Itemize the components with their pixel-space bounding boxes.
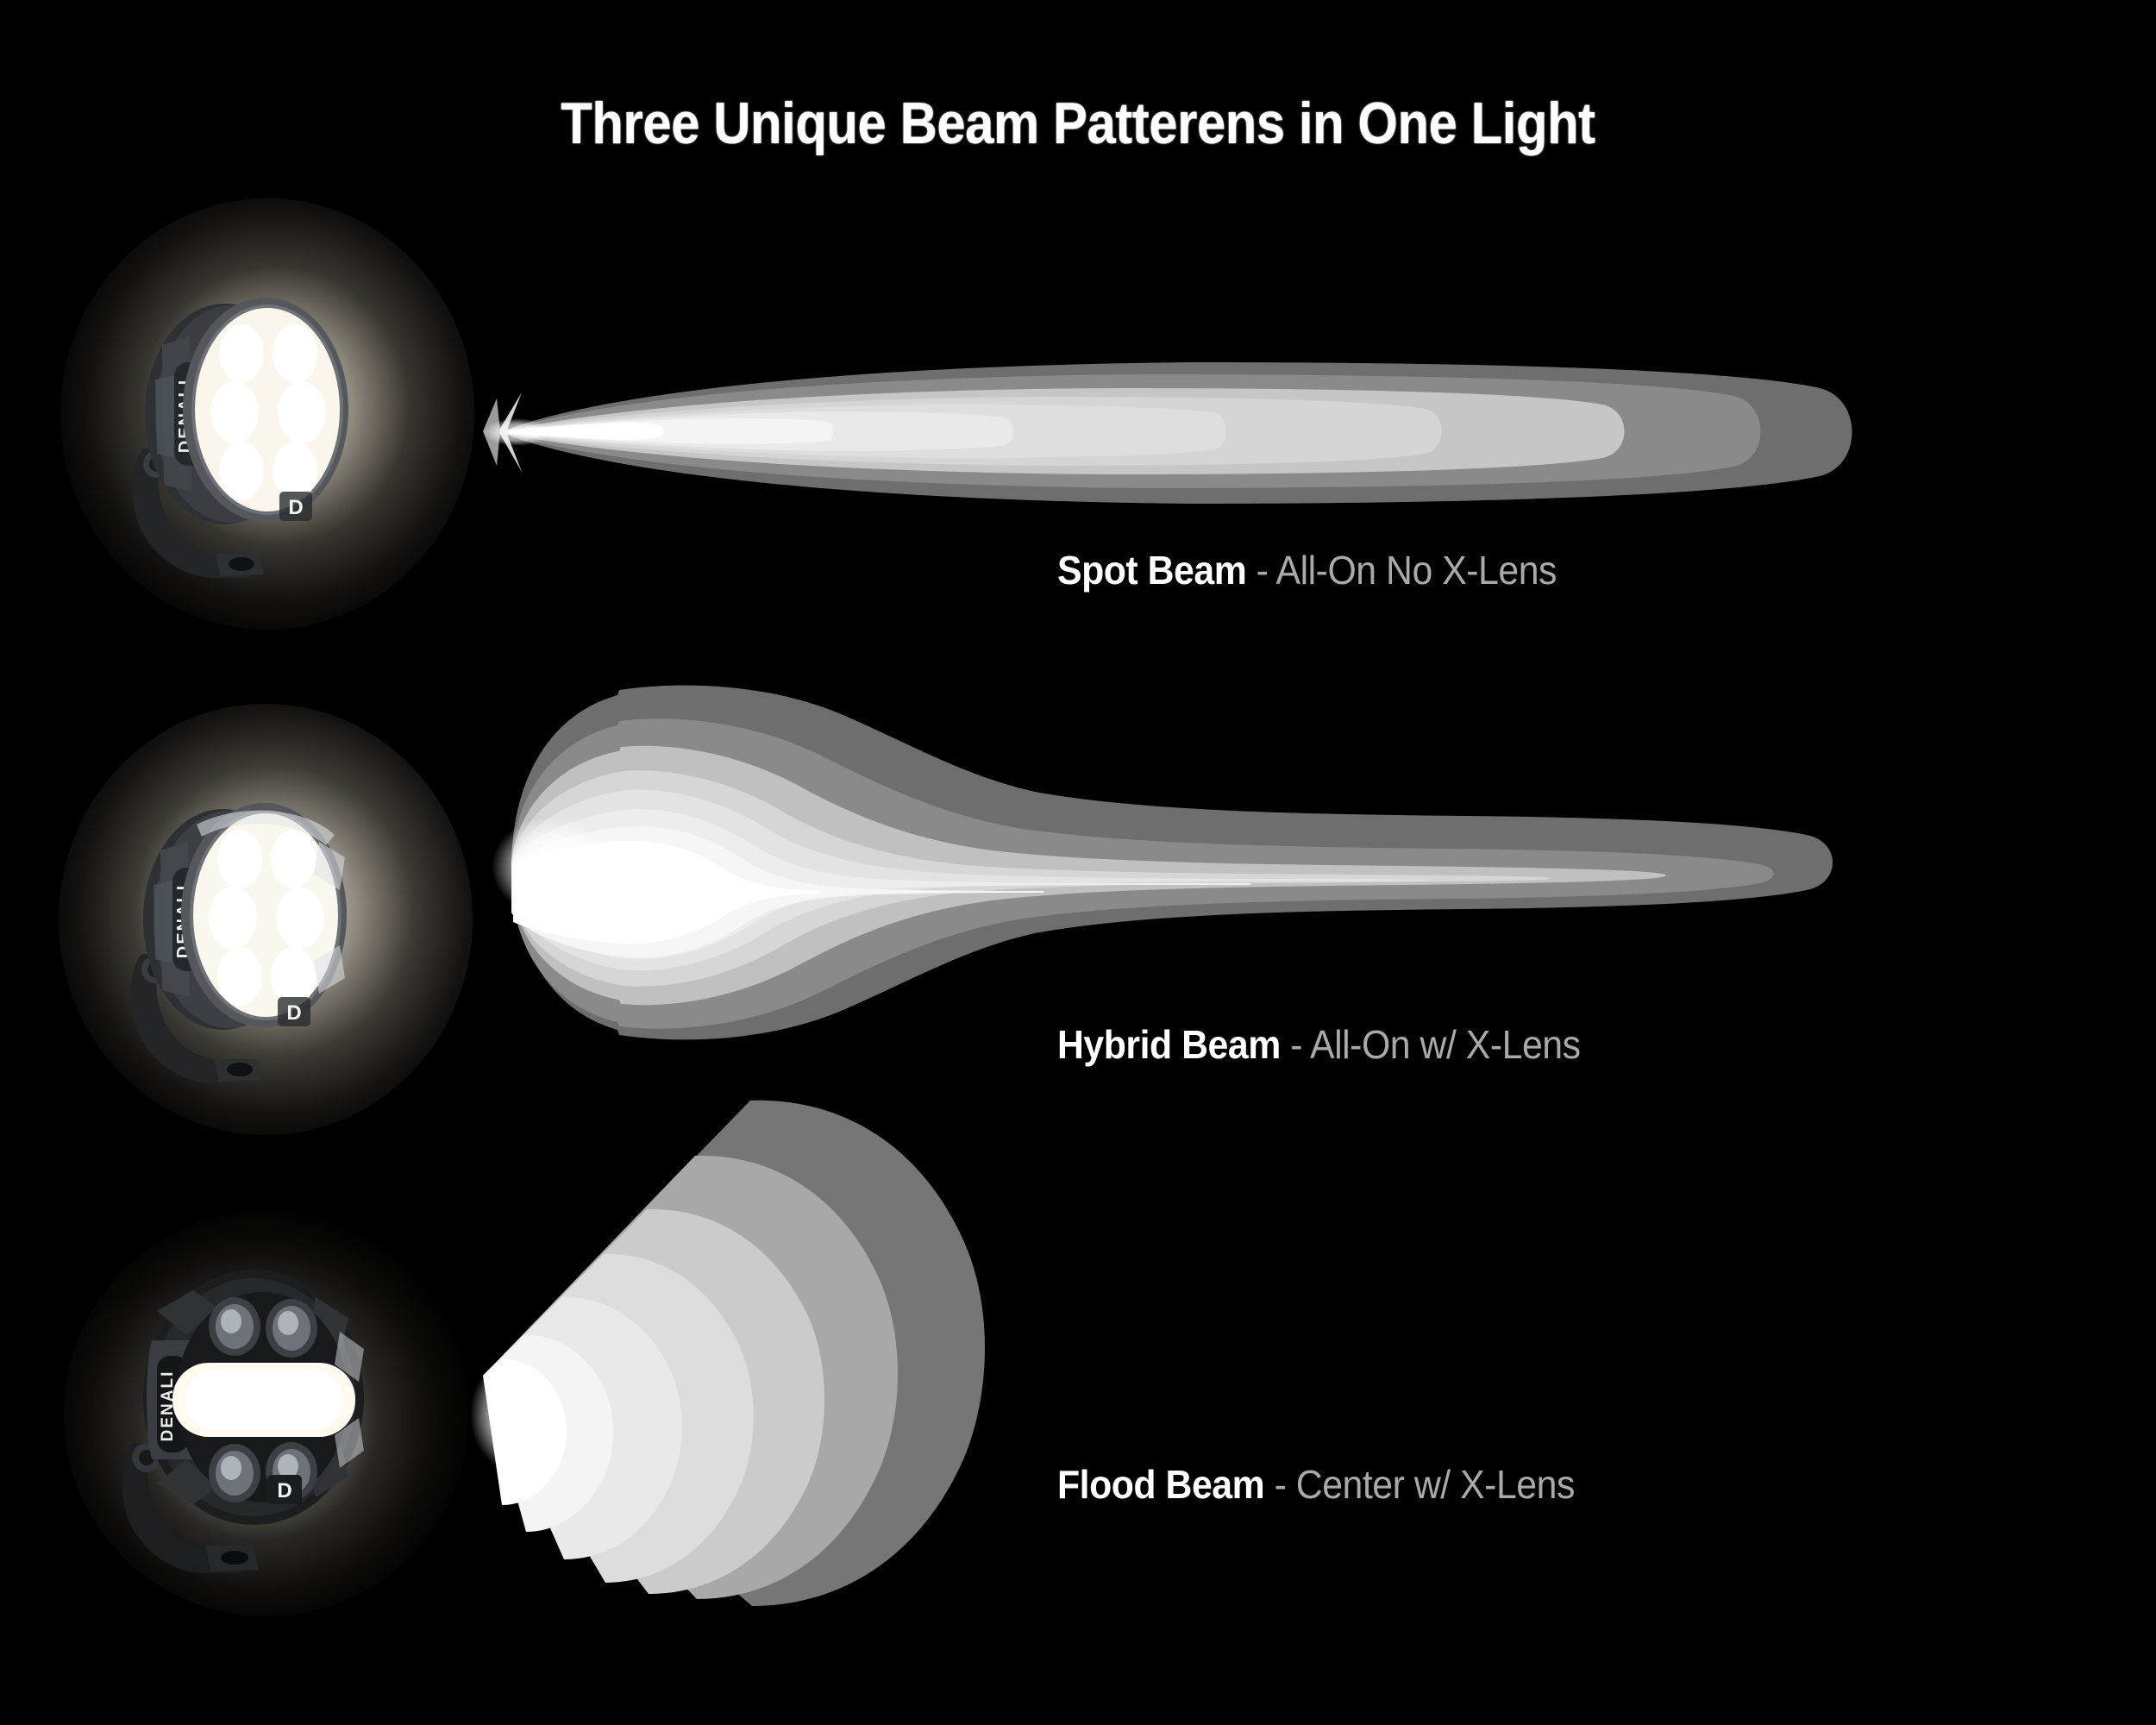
caption-hybrid-sep: - — [1281, 1022, 1310, 1067]
led-cluster-center-lit — [172, 1363, 355, 1437]
caption-flood-desc: Center w/ X-Lens — [1296, 1462, 1575, 1507]
caption-hybrid: Hybrid Beam - All-On w/ X-Lens — [1057, 1025, 1581, 1064]
d-logo-badge: D — [278, 997, 310, 1026]
caption-spot: Spot Beam - All-On No X-Lens — [1057, 550, 1557, 590]
caption-hybrid-name: Hybrid Beam — [1057, 1022, 1281, 1067]
denali-led-pod-spot: DENALI D — [95, 233, 440, 595]
caption-spot-sep: - — [1246, 548, 1275, 593]
caption-flood: Flood Beam - Center w/ X-Lens — [1057, 1465, 1575, 1504]
diagram-canvas: Three Unique Beam Patterens in One Light — [0, 0, 2156, 1725]
hybrid-beam-shape — [492, 686, 1833, 1040]
led-cluster — [195, 308, 340, 511]
caption-flood-sep: - — [1264, 1462, 1296, 1507]
spot-beam-shape — [483, 362, 1852, 504]
led-cluster — [193, 813, 338, 1017]
caption-hybrid-desc: All-On w/ X-Lens — [1310, 1022, 1581, 1067]
d-logo-badge: D — [267, 1475, 302, 1504]
caption-spot-name: Spot Beam — [1057, 548, 1246, 593]
svg-text:D: D — [288, 496, 303, 519]
svg-text:D: D — [286, 1001, 301, 1025]
denali-led-pod-flood: DENALI — [90, 1228, 435, 1590]
caption-flood-name: Flood Beam — [1057, 1462, 1264, 1507]
svg-text:D: D — [277, 1479, 291, 1502]
caption-spot-desc: All-On No X-Lens — [1276, 548, 1557, 593]
page-title: Three Unique Beam Patterens in One Light — [129, 90, 2027, 157]
d-logo-badge: D — [279, 492, 312, 521]
flood-beam-shape — [470, 1101, 985, 1606]
denali-led-pod-hybrid: DENALI D — [93, 738, 438, 1101]
